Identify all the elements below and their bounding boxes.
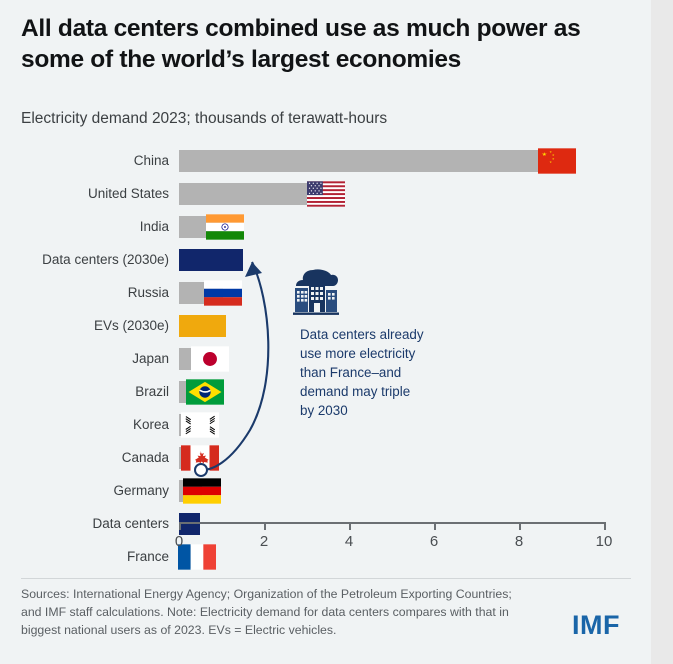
bar-category-label: Korea <box>0 414 169 436</box>
bar-category-label: Brazil <box>0 381 169 403</box>
bar-data-centers-2030e <box>179 249 243 271</box>
flag-brazil-icon <box>186 379 224 405</box>
bar-row: United States <box>0 183 651 216</box>
page-title: All data centers combined use as much po… <box>21 13 631 76</box>
x-axis-line <box>179 522 604 524</box>
bar-category-label: Data centers (2030e) <box>0 249 169 271</box>
bar-category-label: China <box>0 150 169 172</box>
bar-category-label: EVs (2030e) <box>0 315 169 337</box>
data-center-cloud-icon <box>291 268 341 316</box>
bar-evs-2030e <box>179 315 226 337</box>
bar-row: Data centers <box>0 513 651 546</box>
chart-page: All data centers combined use as much po… <box>0 0 673 664</box>
bar-category-label: India <box>0 216 169 238</box>
sources-line-1: Sources: International Energy Agency; Or… <box>21 587 452 601</box>
bar-data-centers <box>179 513 200 535</box>
bar-row: India <box>0 216 651 249</box>
bar-category-label: United States <box>0 183 169 205</box>
sources-note: Sources: International Energy Agency; Or… <box>21 586 521 639</box>
flag-china-icon <box>538 148 576 174</box>
bar-category-label: Canada <box>0 447 169 469</box>
bar-china <box>179 150 557 172</box>
annotation-line-1: Data centers already <box>300 327 424 342</box>
bar-category-label: Data centers <box>0 513 169 535</box>
x-axis-tick-label: 10 <box>584 533 624 550</box>
x-axis-tick <box>349 522 351 530</box>
flag-united-states-icon <box>307 181 345 207</box>
x-axis-tick <box>264 522 266 530</box>
bar-row: Canada <box>0 447 651 480</box>
footer-divider <box>21 578 631 579</box>
chart-subtitle: Electricity demand 2023; thousands of te… <box>21 110 621 128</box>
x-axis-tick <box>434 522 436 530</box>
annotation-text: Data centers already use more electricit… <box>300 325 450 420</box>
bar-category-label: Germany <box>0 480 169 502</box>
annotation-line-4: demand may triple <box>300 384 410 399</box>
flag-india-icon <box>206 214 244 240</box>
annotation-line-3: than France–and <box>300 365 401 380</box>
bar-row: France <box>0 546 651 579</box>
annotation-line-2: use more electricity <box>300 346 415 361</box>
x-axis-tick-label: 8 <box>499 533 539 550</box>
bar-category-label: France <box>0 546 169 568</box>
annotation-line-5: by 2030 <box>300 403 348 418</box>
flag-germany-icon <box>183 478 221 504</box>
bar-row: China <box>0 150 651 183</box>
flag-korea-icon <box>181 412 219 438</box>
imf-logo: IMF <box>572 610 620 641</box>
flag-japan-icon <box>191 346 229 372</box>
bar-row: Germany <box>0 480 651 513</box>
x-axis-tick-label: 0 <box>159 533 199 550</box>
x-axis-tick <box>179 522 181 530</box>
bar-united-states <box>179 183 326 205</box>
flag-russia-icon <box>204 280 242 306</box>
x-axis-tick-label: 4 <box>329 533 369 550</box>
x-axis-tick-label: 6 <box>414 533 454 550</box>
bar-category-label: Russia <box>0 282 169 304</box>
x-axis-tick <box>604 522 606 530</box>
x-axis-tick-label: 2 <box>244 533 284 550</box>
flag-canada-icon <box>181 445 219 471</box>
x-axis-tick <box>519 522 521 530</box>
bar-category-label: Japan <box>0 348 169 370</box>
